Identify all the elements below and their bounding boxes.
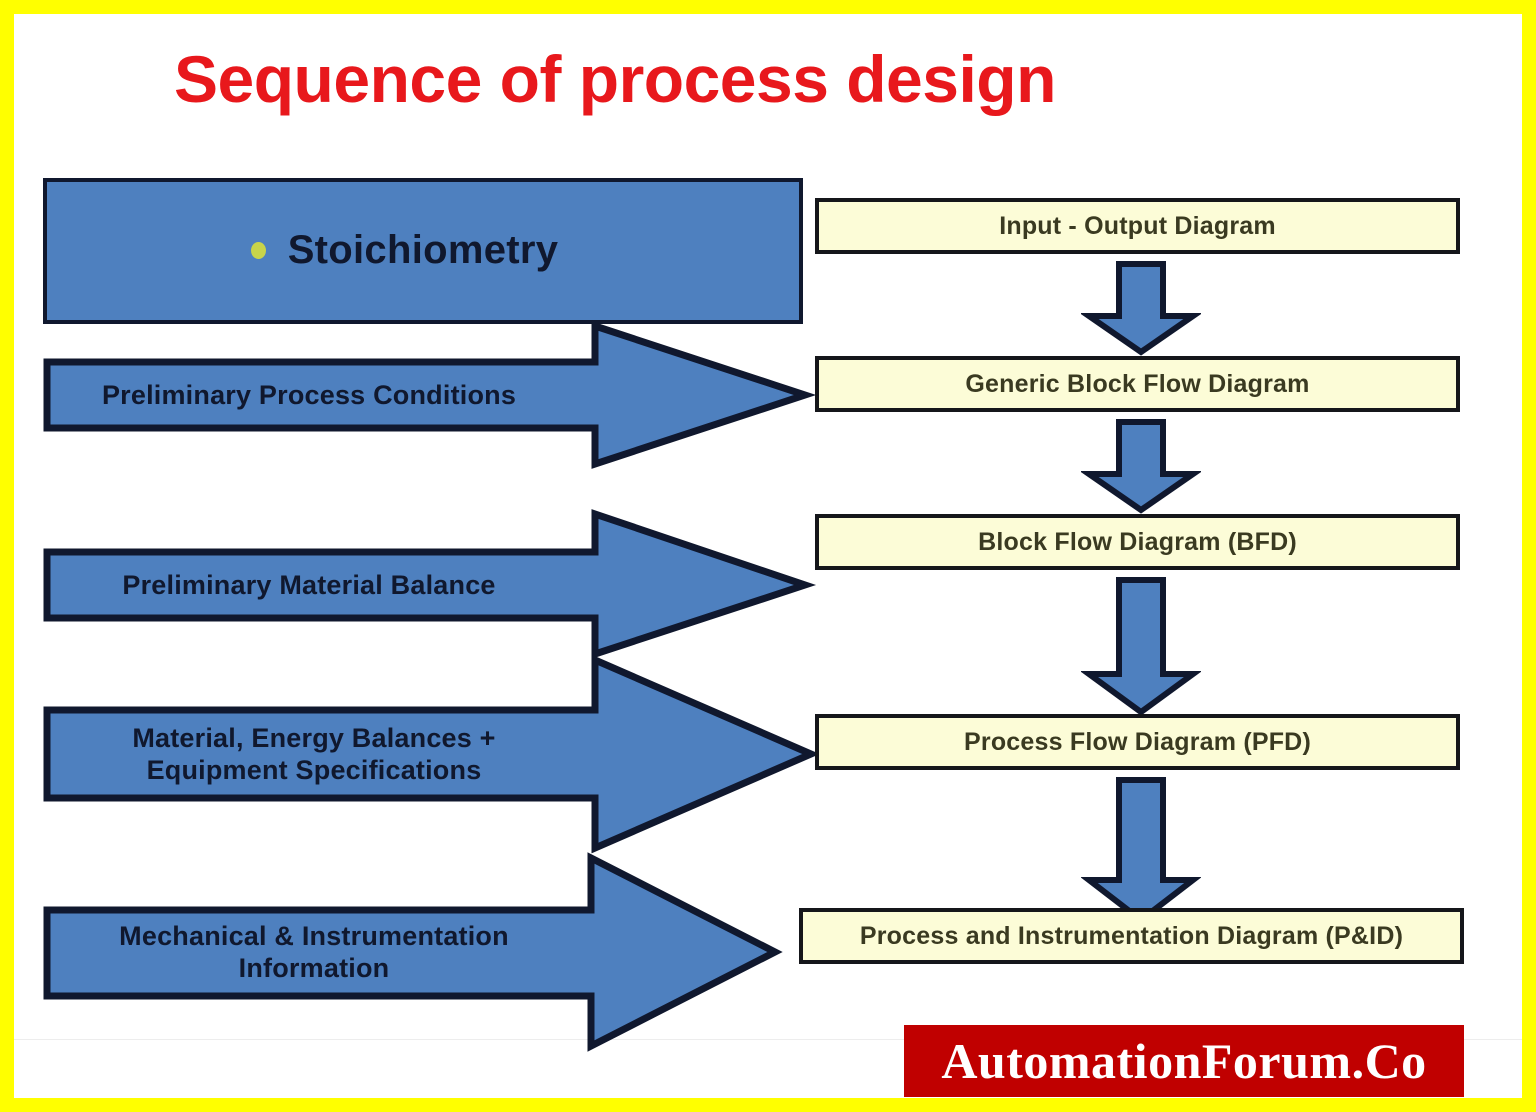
down-arrow-icon-2 bbox=[1081, 418, 1201, 514]
step-box-input-output-diagram[interactable]: Input - Output Diagram bbox=[815, 198, 1460, 254]
arrow-label-line-2: Equipment Specifications bbox=[147, 754, 482, 786]
watermark-text: AutomationForum.Co bbox=[941, 1032, 1426, 1090]
bullet-dot-icon bbox=[251, 242, 266, 259]
slide-canvas: Sequence of process design Stoichiometry… bbox=[14, 14, 1522, 1098]
step-label: Block Flow Diagram (BFD) bbox=[978, 528, 1297, 557]
arrow-label-preliminary-material-balance: Preliminary Material Balance bbox=[49, 560, 569, 610]
step-box-block-flow-diagram[interactable]: Block Flow Diagram (BFD) bbox=[815, 514, 1460, 570]
step-label: Input - Output Diagram bbox=[999, 212, 1276, 241]
arrow-label-mechanical-instrumentation: Mechanical & Instrumentation Information bbox=[49, 912, 579, 992]
stoichiometry-label: Stoichiometry bbox=[288, 227, 559, 274]
arrow-label-line-1: Mechanical & Instrumentation bbox=[119, 920, 509, 952]
step-label: Process and Instrumentation Diagram (P&I… bbox=[860, 922, 1403, 951]
down-arrow-icon-1 bbox=[1081, 260, 1201, 356]
down-arrow-icon-3 bbox=[1081, 576, 1201, 716]
arrow-label-line-1: Material, Energy Balances + bbox=[132, 722, 495, 754]
arrow-label-material-energy-balances: Material, Energy Balances + Equipment Sp… bbox=[49, 714, 579, 794]
step-label: Generic Block Flow Diagram bbox=[965, 370, 1309, 399]
step-box-generic-block-flow-diagram[interactable]: Generic Block Flow Diagram bbox=[815, 356, 1460, 412]
slide-frame: Sequence of process design Stoichiometry… bbox=[0, 0, 1536, 1112]
arrow-label-line-2: Information bbox=[239, 952, 390, 984]
watermark-banner: AutomationForum.Co bbox=[904, 1025, 1464, 1097]
arrow-label-preliminary-process-conditions: Preliminary Process Conditions bbox=[49, 370, 569, 420]
step-label: Process Flow Diagram (PFD) bbox=[964, 728, 1311, 757]
stoichiometry-box[interactable]: Stoichiometry bbox=[43, 178, 803, 324]
down-arrow-icon-4 bbox=[1081, 776, 1201, 924]
step-box-process-flow-diagram[interactable]: Process Flow Diagram (PFD) bbox=[815, 714, 1460, 770]
page-title: Sequence of process design bbox=[174, 36, 1184, 122]
step-box-process-and-instrumentation-diagram[interactable]: Process and Instrumentation Diagram (P&I… bbox=[799, 908, 1464, 964]
